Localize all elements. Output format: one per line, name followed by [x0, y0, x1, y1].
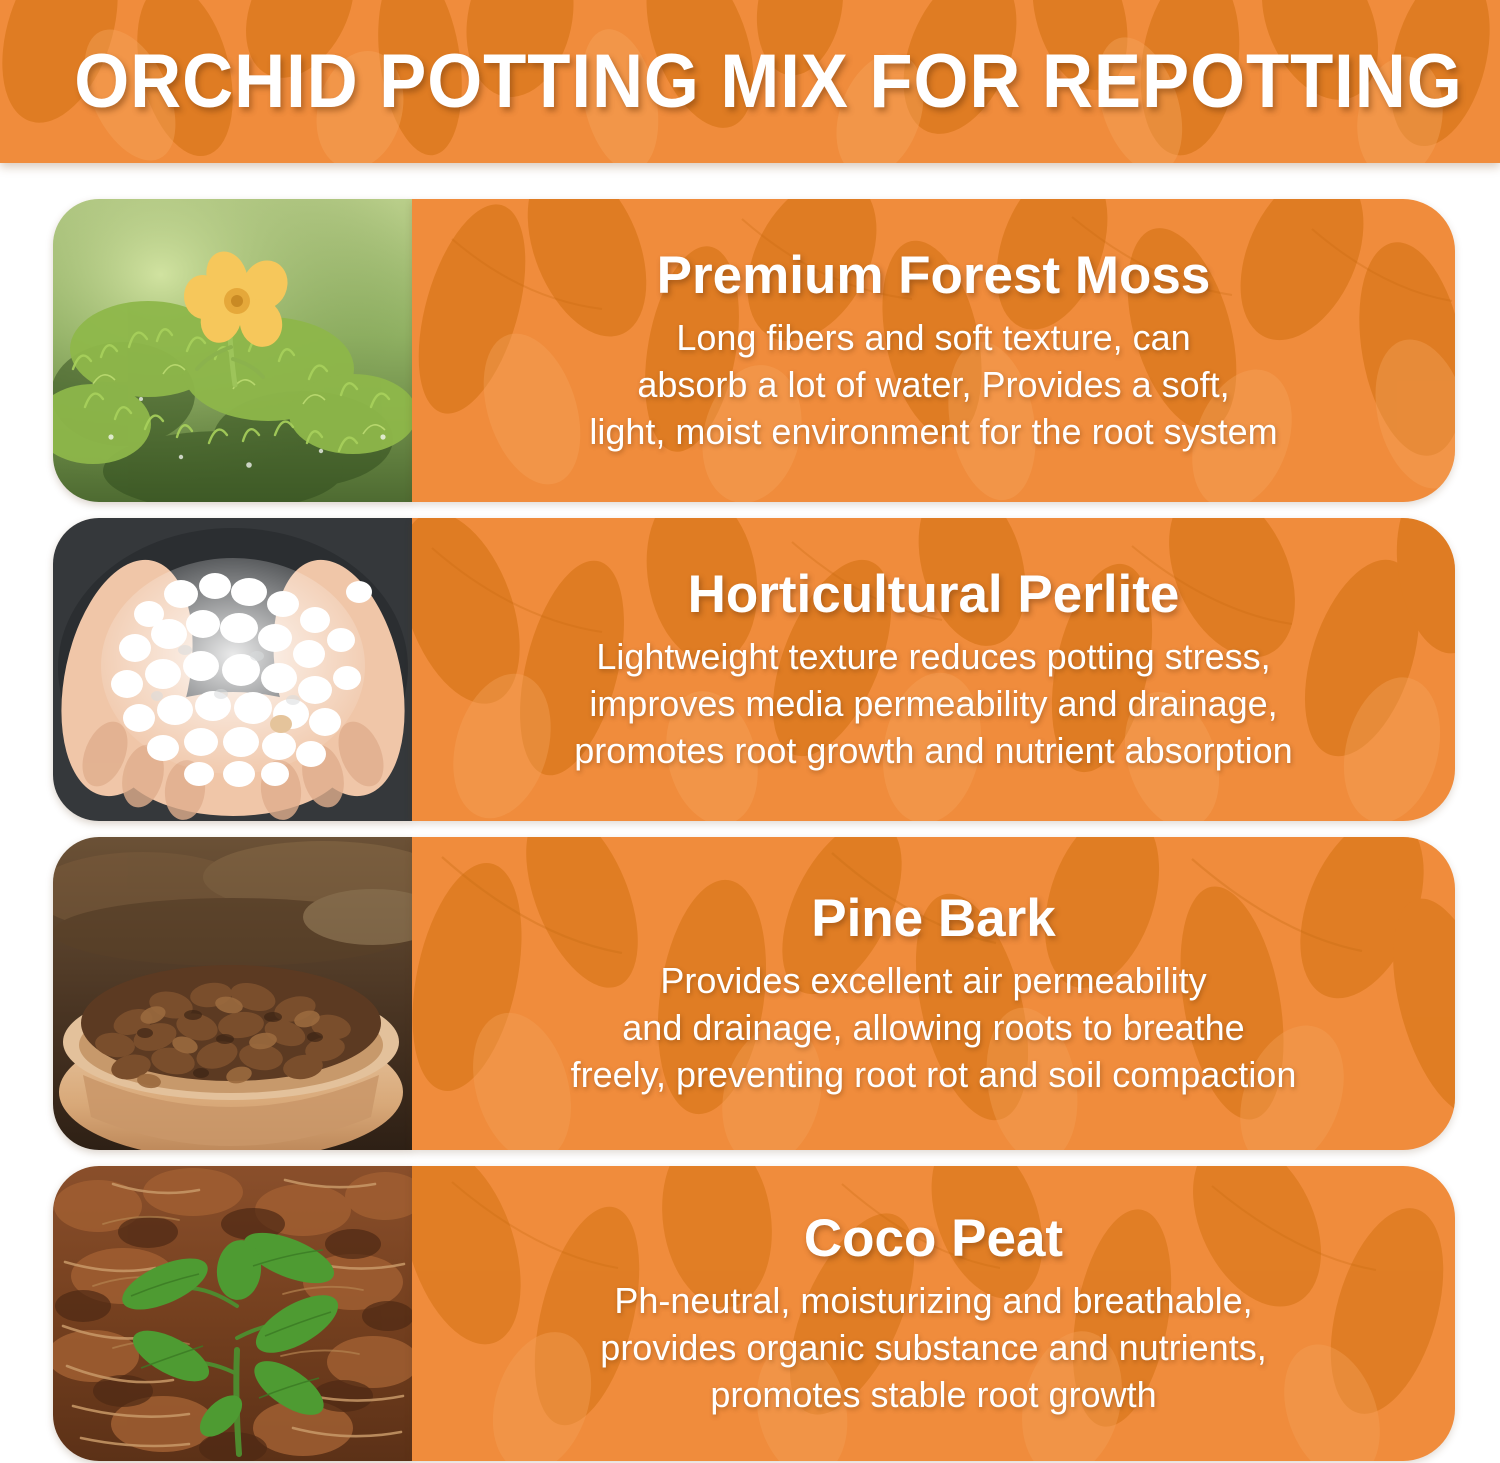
card-content: Coco Peat Ph-neutral, moisturizing and b…: [412, 1209, 1455, 1419]
perlite-illustration: [53, 518, 412, 821]
ingredient-row: Coco Peat Ph-neutral, moisturizing and b…: [0, 1166, 1500, 1461]
ingredient-row: Horticultural Perlite Lightweight textur…: [0, 518, 1500, 821]
coco-peat-illustration: [53, 1166, 412, 1461]
card-content: Horticultural Perlite Lightweight textur…: [412, 565, 1455, 775]
description-line: provides organic substance and nutrients…: [438, 1325, 1429, 1372]
card-title: Premium Forest Moss: [438, 246, 1429, 305]
pine-bark-photo: [53, 837, 412, 1150]
ingredient-list: Premium Forest Moss Long fibers and soft…: [0, 199, 1500, 1461]
ingredient-card: Coco Peat Ph-neutral, moisturizing and b…: [412, 1166, 1455, 1461]
description-line: Long fibers and soft texture, can: [438, 315, 1429, 362]
description-line: and drainage, allowing roots to breathe: [438, 1005, 1429, 1052]
description-line: freely, preventing root rot and soil com…: [438, 1052, 1429, 1099]
card-content: Pine Bark Provides excellent air permeab…: [412, 889, 1455, 1099]
description-line: Ph-neutral, moisturizing and breathable,: [438, 1278, 1429, 1325]
coco-peat-photo: [53, 1166, 412, 1461]
card-title: Horticultural Perlite: [438, 565, 1429, 624]
card-description: Long fibers and soft texture, can absorb…: [438, 315, 1429, 455]
card-description: Provides excellent air permeability and …: [438, 958, 1429, 1098]
description-line: Lightweight texture reduces potting stre…: [438, 634, 1429, 681]
card-title: Pine Bark: [438, 889, 1429, 948]
description-line: promotes stable root growth: [438, 1372, 1429, 1419]
forest-moss-illustration: [53, 199, 412, 502]
description-line: absorb a lot of water, Provides a soft,: [438, 362, 1429, 409]
forest-moss-photo: [53, 199, 412, 502]
card-description: Ph-neutral, moisturizing and breathable,…: [438, 1278, 1429, 1418]
description-line: promotes root growth and nutrient absorp…: [438, 728, 1429, 775]
card-content: Premium Forest Moss Long fibers and soft…: [412, 246, 1455, 456]
ingredient-row: Premium Forest Moss Long fibers and soft…: [0, 199, 1500, 502]
ingredient-card: Premium Forest Moss Long fibers and soft…: [412, 199, 1455, 502]
description-line: Provides excellent air permeability: [438, 958, 1429, 1005]
card-title: Coco Peat: [438, 1209, 1429, 1268]
ingredient-card: Pine Bark Provides excellent air permeab…: [412, 837, 1455, 1150]
header-banner: ORCHID POTTING MIX FOR REPOTTING: [0, 0, 1500, 163]
ingredient-card: Horticultural Perlite Lightweight textur…: [412, 518, 1455, 821]
perlite-photo: [53, 518, 412, 821]
pine-bark-illustration: [53, 837, 412, 1150]
page-title: ORCHID POTTING MIX FOR REPOTTING: [0, 44, 1500, 120]
description-line: light, moist environment for the root sy…: [438, 409, 1429, 456]
ingredient-row: Pine Bark Provides excellent air permeab…: [0, 837, 1500, 1150]
card-description: Lightweight texture reduces potting stre…: [438, 634, 1429, 774]
page-title-text: ORCHID POTTING MIX FOR REPOTTING: [74, 44, 1462, 120]
description-line: improves media permeability and drainage…: [438, 681, 1429, 728]
